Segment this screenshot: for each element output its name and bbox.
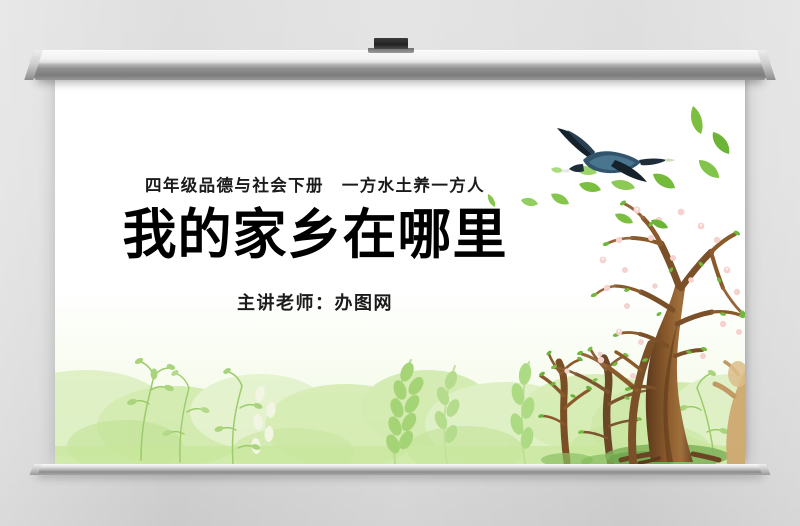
projector-screen-roller-casing[interactable] xyxy=(34,50,766,80)
presenter-label: 主讲老师：办图网 xyxy=(55,289,575,315)
projector-screen-weight-bar[interactable] xyxy=(34,464,766,475)
slide-subtitle: 四年级品德与社会下册 一方水土养一方人 xyxy=(55,178,575,195)
ceiling-mount-bracket-icon xyxy=(374,38,408,49)
projection-screen-surface[interactable]: 四年级品德与社会下册 一方水土养一方人 我的家乡在哪里 主讲老师：办图网 xyxy=(55,74,745,464)
slide-text-block: 四年级品德与社会下册 一方水土养一方人 我的家乡在哪里 主讲老师：办图网 xyxy=(55,178,575,315)
wall-background: 四年级品德与社会下册 一方水土养一方人 我的家乡在哪里 主讲老师：办图网 xyxy=(0,0,800,526)
page-title: 我的家乡在哪里 xyxy=(55,207,575,264)
